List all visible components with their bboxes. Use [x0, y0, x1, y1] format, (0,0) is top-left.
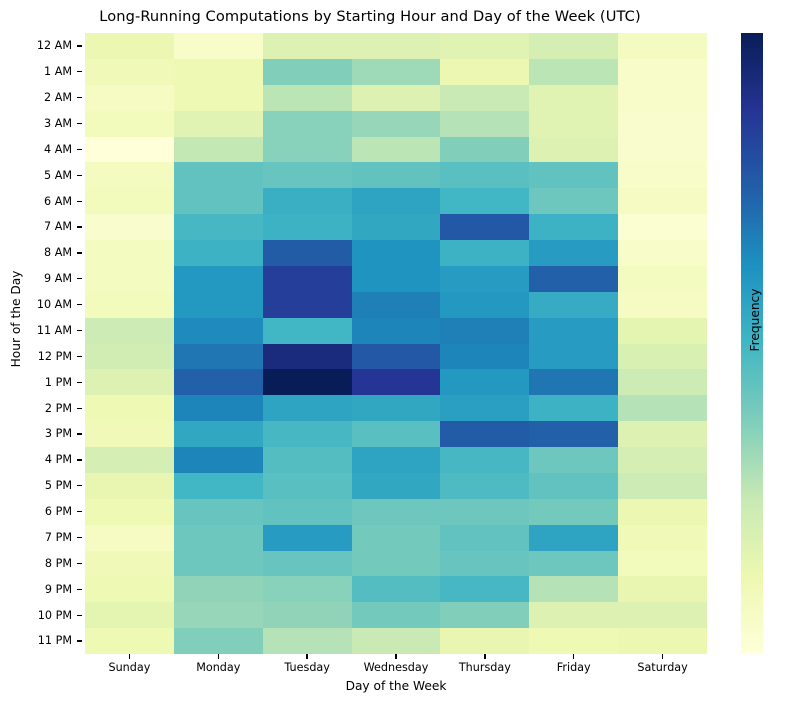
heatmap-cell: [174, 240, 263, 266]
y-tick-mark: [77, 252, 82, 253]
heatmap-cell: [618, 473, 707, 499]
heatmap-cell: [174, 85, 263, 111]
heatmap-cell: [85, 628, 174, 654]
heatmap-cell: [618, 551, 707, 577]
heatmap-cell: [85, 162, 174, 188]
heatmap-cell: [263, 369, 352, 395]
x-tick-label: Tuesday: [284, 661, 330, 675]
heatmap-cell: [263, 602, 352, 628]
heatmap-cell: [529, 214, 618, 240]
heatmap-cell: [352, 395, 441, 421]
heatmap-cell: [263, 33, 352, 59]
heatmap-cell: [263, 318, 352, 344]
y-tick-label: 9 AM: [0, 273, 72, 284]
heatmap-cell: [618, 395, 707, 421]
heatmap-cell: [352, 33, 441, 59]
y-tick-mark: [77, 226, 82, 227]
y-tick-label: 6 PM: [0, 506, 72, 517]
heatmap-cell: [529, 499, 618, 525]
heatmap-grid: [85, 33, 707, 654]
heatmap-cell: [618, 214, 707, 240]
heatmap-cell: [174, 628, 263, 654]
heatmap-cell: [352, 344, 441, 370]
heatmap-cell: [529, 369, 618, 395]
y-tick-label: 11 AM: [0, 325, 72, 336]
x-tick-mark: [306, 654, 307, 659]
y-tick-mark: [77, 149, 82, 150]
heatmap-cell: [529, 421, 618, 447]
heatmap-cell: [85, 369, 174, 395]
x-tick-label: Sunday: [108, 661, 150, 675]
y-tick-label: 10 PM: [0, 610, 72, 621]
y-tick-label: 8 PM: [0, 558, 72, 569]
heatmap-cell: [85, 447, 174, 473]
heatmap-cell: [352, 447, 441, 473]
heatmap-cell: [174, 137, 263, 163]
heatmap-cell: [352, 473, 441, 499]
heatmap-cell: [440, 473, 529, 499]
heatmap-cell: [352, 111, 441, 137]
heatmap-cell: [618, 576, 707, 602]
x-tick-label: Thursday: [459, 661, 511, 675]
x-tick-label: Monday: [196, 661, 240, 675]
heatmap-cell: [618, 292, 707, 318]
y-tick-label: 3 AM: [0, 118, 72, 129]
heatmap-cell: [440, 162, 529, 188]
heatmap-cell: [263, 551, 352, 577]
heatmap-cell: [440, 292, 529, 318]
y-tick-mark: [77, 356, 82, 357]
heatmap-cell: [529, 525, 618, 551]
y-tick-label: 7 PM: [0, 532, 72, 543]
heatmap-cell: [618, 525, 707, 551]
heatmap-cell: [85, 292, 174, 318]
heatmap-cell: [618, 369, 707, 395]
heatmap-cell: [174, 292, 263, 318]
y-tick-mark: [77, 615, 82, 616]
heatmap-cell: [85, 85, 174, 111]
heatmap-cell: [85, 214, 174, 240]
heatmap-cell: [263, 576, 352, 602]
heatmap-cell: [529, 85, 618, 111]
heatmap-cell: [529, 628, 618, 654]
heatmap-cell: [174, 266, 263, 292]
heatmap-cell: [352, 137, 441, 163]
y-tick-mark: [77, 45, 82, 46]
heatmap-cell: [618, 447, 707, 473]
y-tick-label: 3 PM: [0, 428, 72, 439]
heatmap-cell: [352, 188, 441, 214]
heatmap-cell: [618, 85, 707, 111]
y-tick-label: 5 AM: [0, 170, 72, 181]
heatmap-cell: [352, 576, 441, 602]
heatmap-cell: [352, 525, 441, 551]
page-title: Long-Running Computations by Starting Ho…: [0, 8, 740, 25]
heatmap-cell: [85, 473, 174, 499]
y-tick-label: 6 AM: [0, 196, 72, 207]
heatmap-cell: [440, 59, 529, 85]
heatmap-cell: [618, 266, 707, 292]
heatmap-cell: [440, 344, 529, 370]
heatmap-cell: [440, 33, 529, 59]
x-axis-tick-marks: [85, 654, 707, 660]
y-tick-mark: [77, 589, 82, 590]
y-axis-tick-labels: 12 AM1 AM2 AM3 AM4 AM5 AM6 AM7 AM8 AM9 A…: [0, 33, 72, 654]
heatmap-cell: [174, 33, 263, 59]
y-tick-label: 10 AM: [0, 299, 72, 310]
x-tick-mark: [484, 654, 485, 659]
heatmap-cell: [440, 188, 529, 214]
heatmap-cell: [440, 240, 529, 266]
heatmap-cell: [440, 602, 529, 628]
heatmap-cell: [174, 214, 263, 240]
heatmap-cell: [263, 162, 352, 188]
heatmap-cell: [263, 85, 352, 111]
heatmap-cell: [263, 59, 352, 85]
heatmap-cell: [263, 395, 352, 421]
heatmap-cell: [352, 85, 441, 111]
y-tick-mark: [77, 123, 82, 124]
y-tick-mark: [77, 382, 82, 383]
heatmap-cell: [529, 188, 618, 214]
y-tick-label: 12 AM: [0, 40, 72, 51]
heatmap-cell: [618, 602, 707, 628]
heatmap-cell: [263, 525, 352, 551]
y-tick-label: 7 AM: [0, 221, 72, 232]
y-tick-label: 11 PM: [0, 635, 72, 646]
y-tick-label: 4 AM: [0, 144, 72, 155]
heatmap-cell: [263, 499, 352, 525]
heatmap-cell: [618, 318, 707, 344]
y-tick-mark: [77, 485, 82, 486]
heatmap-cell: [529, 395, 618, 421]
heatmap-cell: [440, 421, 529, 447]
plot-area: [85, 33, 707, 654]
heatmap-cell: [529, 266, 618, 292]
heatmap-cell: [440, 266, 529, 292]
heatmap-cell: [174, 344, 263, 370]
heatmap-cell: [529, 344, 618, 370]
heatmap-cell: [174, 576, 263, 602]
heatmap-cell: [85, 266, 174, 292]
heatmap-cell: [618, 111, 707, 137]
heatmap-cell: [85, 551, 174, 577]
y-tick-mark: [77, 511, 82, 512]
y-axis-tick-marks: [77, 33, 85, 654]
heatmap-cell: [529, 137, 618, 163]
heatmap-cell: [174, 447, 263, 473]
y-tick-label: 2 AM: [0, 92, 72, 103]
heatmap-cell: [263, 344, 352, 370]
y-tick-mark: [77, 304, 82, 305]
heatmap-cell: [529, 292, 618, 318]
y-tick-mark: [77, 97, 82, 98]
heatmap-cell: [174, 318, 263, 344]
heatmap-cell: [352, 318, 441, 344]
heatmap-cell: [529, 33, 618, 59]
heatmap-cell: [529, 162, 618, 188]
heatmap-cell: [174, 551, 263, 577]
x-tick-mark: [395, 654, 396, 659]
heatmap-cell: [618, 421, 707, 447]
heatmap-cell: [529, 59, 618, 85]
heatmap-cell: [529, 447, 618, 473]
heatmap-cell: [85, 421, 174, 447]
heatmap-cell: [174, 421, 263, 447]
heatmap-cell: [85, 137, 174, 163]
heatmap-cell: [440, 628, 529, 654]
heatmap-cell: [529, 111, 618, 137]
heatmap-cell: [85, 59, 174, 85]
heatmap-cell: [440, 576, 529, 602]
x-tick-mark: [129, 654, 130, 659]
heatmap-cell: [174, 602, 263, 628]
y-tick-label: 1 AM: [0, 66, 72, 77]
heatmap-cell: [618, 33, 707, 59]
heatmap-figure: Long-Running Computations by Starting Ho…: [0, 0, 802, 701]
x-tick-label: Wednesday: [364, 661, 429, 675]
heatmap-cell: [263, 137, 352, 163]
y-tick-label: 4 PM: [0, 454, 72, 465]
heatmap-cell: [529, 551, 618, 577]
heatmap-cell: [440, 111, 529, 137]
heatmap-cell: [85, 395, 174, 421]
heatmap-cell: [352, 240, 441, 266]
x-axis-tick-labels: SundayMondayTuesdayWednesdayThursdayFrid…: [85, 661, 707, 677]
heatmap-cell: [352, 551, 441, 577]
y-tick-label: 9 PM: [0, 584, 72, 595]
heatmap-cell: [174, 473, 263, 499]
heatmap-cell: [618, 59, 707, 85]
y-tick-label: 2 PM: [0, 403, 72, 414]
heatmap-cell: [263, 628, 352, 654]
heatmap-cell: [529, 318, 618, 344]
heatmap-cell: [440, 525, 529, 551]
y-tick-mark: [77, 408, 82, 409]
heatmap-cell: [85, 240, 174, 266]
heatmap-cell: [263, 473, 352, 499]
heatmap-cell: [263, 240, 352, 266]
heatmap-cell: [85, 576, 174, 602]
heatmap-cell: [618, 162, 707, 188]
y-tick-mark: [77, 537, 82, 538]
heatmap-cell: [263, 266, 352, 292]
heatmap-cell: [263, 421, 352, 447]
heatmap-cell: [618, 628, 707, 654]
heatmap-cell: [440, 369, 529, 395]
y-tick-mark: [77, 563, 82, 564]
heatmap-cell: [440, 214, 529, 240]
heatmap-cell: [352, 214, 441, 240]
x-tick-label: Saturday: [637, 661, 687, 675]
heatmap-cell: [85, 188, 174, 214]
heatmap-cell: [352, 292, 441, 318]
heatmap-cell: [352, 602, 441, 628]
y-tick-label: 1 PM: [0, 377, 72, 388]
heatmap-cell: [618, 137, 707, 163]
heatmap-cell: [618, 344, 707, 370]
heatmap-cell: [352, 421, 441, 447]
heatmap-cell: [85, 318, 174, 344]
heatmap-cell: [440, 499, 529, 525]
heatmap-cell: [174, 188, 263, 214]
heatmap-cell: [352, 162, 441, 188]
heatmap-cell: [618, 499, 707, 525]
heatmap-cell: [263, 214, 352, 240]
heatmap-cell: [352, 628, 441, 654]
colorbar-label: Frequency: [748, 260, 762, 380]
y-tick-mark: [77, 330, 82, 331]
y-tick-label: 12 PM: [0, 351, 72, 362]
heatmap-cell: [263, 447, 352, 473]
heatmap-cell: [440, 137, 529, 163]
x-tick-label: Friday: [557, 661, 591, 675]
heatmap-cell: [174, 162, 263, 188]
heatmap-cell: [85, 602, 174, 628]
x-axis-title: Day of the Week: [85, 679, 707, 693]
heatmap-cell: [263, 188, 352, 214]
heatmap-cell: [174, 499, 263, 525]
x-tick-mark: [662, 654, 663, 659]
heatmap-cell: [263, 111, 352, 137]
y-tick-mark: [77, 278, 82, 279]
heatmap-cell: [85, 344, 174, 370]
x-tick-mark: [573, 654, 574, 659]
heatmap-cell: [174, 525, 263, 551]
heatmap-cell: [174, 59, 263, 85]
heatmap-cell: [440, 318, 529, 344]
y-tick-label: 8 AM: [0, 247, 72, 258]
heatmap-cell: [352, 59, 441, 85]
heatmap-cell: [440, 447, 529, 473]
y-tick-mark: [77, 459, 82, 460]
heatmap-cell: [174, 395, 263, 421]
heatmap-cell: [440, 395, 529, 421]
heatmap-cell: [174, 369, 263, 395]
y-tick-mark: [77, 640, 82, 641]
heatmap-cell: [352, 499, 441, 525]
heatmap-cell: [352, 369, 441, 395]
heatmap-cell: [618, 188, 707, 214]
heatmap-cell: [174, 111, 263, 137]
heatmap-cell: [263, 292, 352, 318]
y-tick-mark: [77, 71, 82, 72]
heatmap-cell: [529, 240, 618, 266]
heatmap-cell: [85, 33, 174, 59]
heatmap-cell: [618, 240, 707, 266]
heatmap-cell: [85, 525, 174, 551]
x-tick-mark: [218, 654, 219, 659]
heatmap-cell: [85, 111, 174, 137]
y-tick-mark: [77, 433, 82, 434]
heatmap-cell: [85, 499, 174, 525]
heatmap-cell: [440, 551, 529, 577]
heatmap-cell: [440, 85, 529, 111]
heatmap-cell: [529, 576, 618, 602]
heatmap-cell: [352, 266, 441, 292]
heatmap-cell: [529, 602, 618, 628]
y-tick-label: 5 PM: [0, 480, 72, 491]
heatmap-cell: [529, 473, 618, 499]
y-tick-mark: [77, 175, 82, 176]
y-tick-mark: [77, 201, 82, 202]
